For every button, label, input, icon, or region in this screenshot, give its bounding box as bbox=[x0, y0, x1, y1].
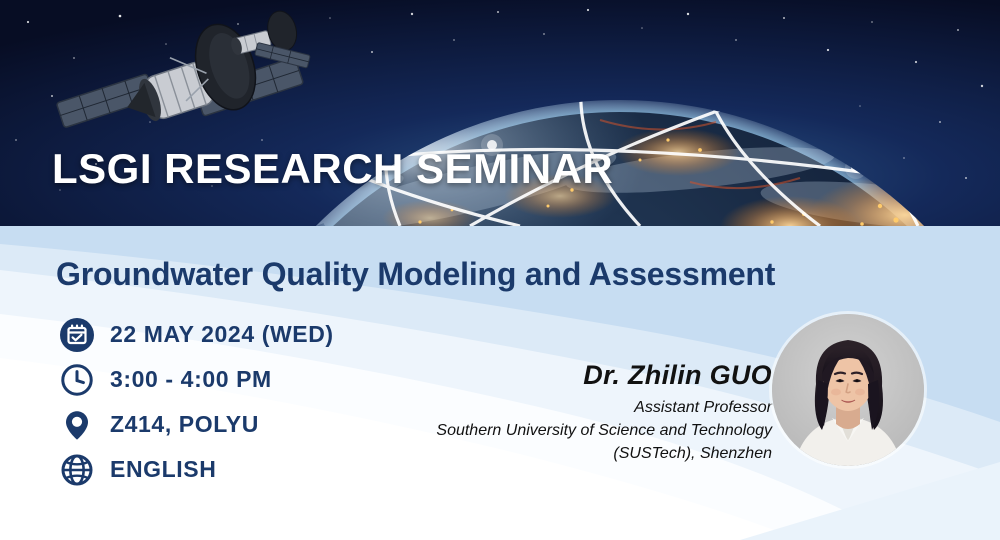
detail-row-date: 22 MAY 2024 (WED) bbox=[56, 312, 476, 357]
speaker-name: Dr. Zhilin GUO bbox=[302, 360, 772, 391]
detail-label-time: 3:00 - 4:00 PM bbox=[110, 366, 272, 393]
detail-label-venue: Z414, POLYU bbox=[110, 411, 259, 438]
speaker-role: Assistant Professor bbox=[302, 396, 772, 419]
seminar-headline: Groundwater Quality Modeling and Assessm… bbox=[56, 256, 916, 293]
globe-icon bbox=[56, 449, 98, 491]
speaker-portrait bbox=[772, 314, 924, 466]
hero-banner: LSGI RESEARCH SEMINAR bbox=[0, 0, 1000, 226]
speaker-affiliation-line-1: Southern University of Science and Techn… bbox=[302, 419, 772, 442]
detail-label-language: ENGLISH bbox=[110, 456, 216, 483]
speaker-info: Dr. Zhilin GUO Assistant Professor South… bbox=[302, 360, 772, 466]
calendar-icon bbox=[56, 314, 98, 356]
hero-space-illustration bbox=[0, 0, 1000, 226]
clock-icon bbox=[56, 359, 98, 401]
page-title: LSGI RESEARCH SEMINAR bbox=[52, 148, 613, 190]
speaker-affiliation-line-2: (SUSTech), Shenzhen bbox=[302, 442, 772, 465]
location-pin-icon bbox=[56, 404, 98, 446]
detail-label-date: 22 MAY 2024 (WED) bbox=[110, 321, 334, 348]
seminar-poster: LSGI RESEARCH SEMINAR Groundwater Qualit… bbox=[0, 0, 1000, 540]
